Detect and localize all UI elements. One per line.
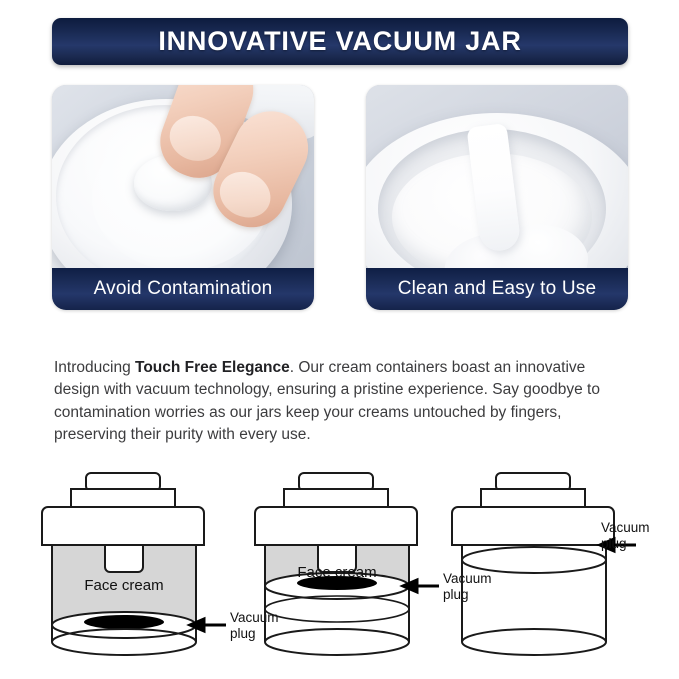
page-title: INNOVATIVE VACUUM JAR	[158, 26, 521, 57]
jar1-callout-line1: Vacuum	[230, 610, 279, 625]
jar3-lid-mid	[481, 489, 585, 507]
jar1-inner-notch	[105, 545, 143, 572]
vacuum-jar-diagram: .ln { fill:none; stroke:#1a1a1a; stroke-…	[0, 455, 679, 665]
panel-caption-label-right: Clean and Easy to Use	[398, 278, 597, 300]
panel-caption-bar-left: Avoid Contamination	[52, 268, 314, 310]
jar3-callout-line1: Vacuum	[601, 520, 650, 535]
jar2-callout-line2: plug	[443, 587, 469, 602]
feature-panels: Avoid Contamination Clean and Easy to Us…	[52, 85, 628, 310]
jar2-callout-line1: Vacuum	[443, 571, 492, 586]
jar1-lid-mid	[71, 489, 175, 507]
jar-diagram-full: Face cream	[42, 473, 204, 655]
jar3-plug-disc	[462, 547, 606, 573]
jar1-cream-label: Face cream	[84, 577, 163, 594]
jar-diagram-empty	[452, 473, 614, 655]
fingernail-upper	[163, 109, 227, 168]
jar2-cap	[255, 507, 417, 545]
panel-avoid-contamination: Avoid Contamination	[52, 85, 314, 310]
description-paragraph: Introducing Touch Free Elegance. Our cre…	[54, 357, 632, 447]
jar2-vacuum-plug-callout: Vacuum plug	[403, 571, 492, 602]
jar-diagram-half: Face cream	[255, 473, 417, 655]
panel-caption-label-left: Avoid Contamination	[94, 278, 273, 300]
jar1-callout-line2: plug	[230, 626, 256, 641]
jar2-cream-label: Face cream	[297, 564, 376, 581]
jar1-plug-seal	[84, 615, 164, 629]
jar3-vacuum-plug-callout: Vacuum plug	[600, 520, 650, 551]
panel-caption-bar-right: Clean and Easy to Use	[366, 268, 628, 310]
brand-name: Touch Free Elegance	[135, 359, 290, 376]
description-lead-in: Introducing	[54, 359, 135, 376]
jar3-cap	[452, 507, 614, 545]
jar1-cap	[42, 507, 204, 545]
jar2-bottom	[265, 629, 409, 655]
jar2-lid-mid	[284, 489, 388, 507]
panel-clean-and-easy: Clean and Easy to Use	[366, 85, 628, 310]
jar3-callout-line2: plug	[601, 536, 627, 551]
header-banner: INNOVATIVE VACUUM JAR	[52, 18, 628, 65]
jar3-bottom	[462, 629, 606, 655]
jar-opening-shape	[378, 129, 606, 289]
